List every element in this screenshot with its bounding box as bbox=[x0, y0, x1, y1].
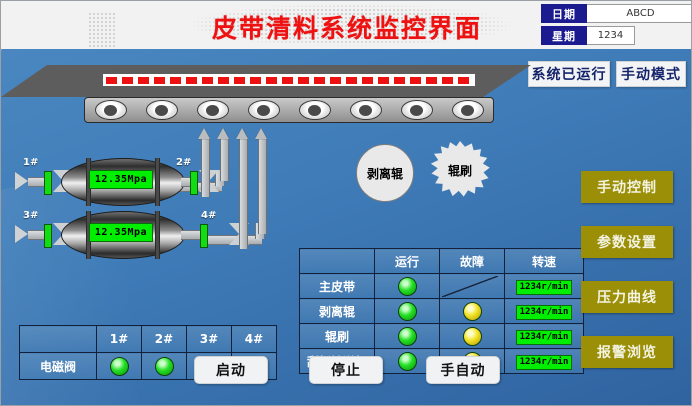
belt-dash bbox=[266, 77, 277, 84]
belt-dash bbox=[378, 77, 389, 84]
belt-dash bbox=[186, 77, 197, 84]
run-lamp-cell bbox=[375, 299, 440, 324]
spray-arrow-2 bbox=[217, 128, 230, 181]
belt-dash bbox=[234, 77, 245, 84]
roller-hub bbox=[410, 105, 423, 116]
date-field: 日期 ABCD bbox=[541, 4, 692, 23]
fault-lamp bbox=[463, 327, 482, 346]
mimic-canvas: 系统已运行 手动模式 剥离辊 辊刷 1# bbox=[1, 49, 692, 406]
stop-button[interactable]: 停止 bbox=[309, 356, 383, 384]
belt-dash bbox=[106, 77, 117, 84]
belt-dash bbox=[154, 77, 165, 84]
col-head-blank bbox=[20, 326, 97, 353]
run-lamp-cell bbox=[375, 324, 440, 349]
run-lamp bbox=[398, 277, 417, 296]
table-row: 辊刷 1234r/min bbox=[300, 324, 584, 349]
speed-cell: 1234r/min bbox=[505, 299, 584, 324]
belt-dash bbox=[426, 77, 437, 84]
row-label: 辊刷 bbox=[300, 324, 375, 349]
valve-lamp bbox=[155, 357, 174, 376]
alarm-browse-button[interactable]: 报警浏览 bbox=[581, 336, 673, 368]
valve-lamp-cell-2 bbox=[142, 353, 187, 380]
manual-auto-button[interactable]: 手自动 bbox=[426, 356, 500, 384]
conveyor-roller bbox=[248, 100, 280, 120]
valve-label-4: 4# bbox=[201, 210, 216, 221]
belt-dash bbox=[394, 77, 405, 84]
peel-roller-shape: 剥离辊 bbox=[356, 144, 414, 202]
date-value[interactable]: ABCD bbox=[587, 4, 692, 23]
belt-dash bbox=[170, 77, 181, 84]
start-button[interactable]: 启动 bbox=[194, 356, 268, 384]
valve-label-1: 1# bbox=[23, 157, 38, 168]
roller-hub bbox=[257, 105, 270, 116]
conveyor-roller bbox=[146, 100, 178, 120]
belt-dash bbox=[202, 77, 213, 84]
valve-indicator-3 bbox=[44, 224, 52, 248]
speed-value: 1234r/min bbox=[516, 330, 573, 345]
manual-control-button[interactable]: 手动控制 bbox=[581, 171, 673, 203]
weekday-field: 星期 1234 bbox=[541, 26, 635, 45]
col-head-speed: 转速 bbox=[505, 249, 584, 274]
valve-lamp-cell-1 bbox=[97, 353, 142, 380]
col-head-fault: 故障 bbox=[440, 249, 505, 274]
belt-dash bbox=[442, 77, 453, 84]
weekday-value[interactable]: 1234 bbox=[587, 26, 635, 45]
roller-hub bbox=[359, 105, 372, 116]
col-head-valve-4: 4# bbox=[232, 326, 277, 353]
roller-hub bbox=[308, 105, 321, 116]
conveyor-roller bbox=[197, 100, 229, 120]
inlet-pipe-1 bbox=[28, 177, 44, 187]
roller-brush-shape: 辊刷 bbox=[429, 141, 491, 199]
fault-lamp bbox=[463, 302, 482, 321]
valve-indicator-2 bbox=[190, 171, 198, 195]
inlet-arrow-3 bbox=[15, 225, 28, 243]
speed-value: 1234r/min bbox=[516, 305, 573, 320]
belt-dash bbox=[298, 77, 309, 84]
conveyor-roller bbox=[350, 100, 382, 120]
belt-dash bbox=[410, 77, 421, 84]
col-head-run: 运行 bbox=[375, 249, 440, 274]
row-label: 剥离辊 bbox=[300, 299, 375, 324]
roller-hub bbox=[461, 105, 474, 116]
valve-indicator-4 bbox=[200, 224, 208, 248]
valve-indicator-1 bbox=[44, 171, 52, 195]
fault-lamp-cell bbox=[440, 299, 505, 324]
date-label: 日期 bbox=[541, 4, 587, 23]
belt-dash bbox=[330, 77, 341, 84]
roller-hub bbox=[206, 105, 219, 116]
pressure-display-2: 12.35Mpa bbox=[89, 223, 153, 242]
conveyor-roller bbox=[95, 100, 127, 120]
belt-dash bbox=[138, 77, 149, 84]
col-head-blank bbox=[300, 249, 375, 274]
scada-screen: 皮带清料系统监控界面 日期 ABCD 星期 1234 系统已运行 手动模式 bbox=[0, 0, 692, 406]
pressure-display-1: 12.35Mpa bbox=[89, 170, 153, 189]
belt-dash bbox=[362, 77, 373, 84]
table-header-row: 1# 2# 3# 4# bbox=[20, 326, 277, 353]
run-lamp bbox=[398, 352, 417, 371]
outlet-pipe-2 bbox=[181, 230, 201, 240]
roller-hub bbox=[104, 105, 117, 116]
weekday-label: 星期 bbox=[541, 26, 587, 45]
table-row: 主皮带 1234r/min bbox=[300, 274, 584, 299]
run-lamp bbox=[398, 327, 417, 346]
valve-label-3: 3# bbox=[23, 210, 38, 221]
row-label: 主皮带 bbox=[300, 274, 375, 299]
system-status-indicator[interactable]: 系统已运行 bbox=[528, 61, 610, 87]
valve-lamp bbox=[110, 357, 129, 376]
table-row: 剥离辊 1234r/min bbox=[300, 299, 584, 324]
conveyor-roller bbox=[452, 100, 484, 120]
speed-cell: 1234r/min bbox=[505, 274, 584, 299]
mode-status-indicator[interactable]: 手动模式 bbox=[616, 61, 686, 87]
parameter-settings-button[interactable]: 参数设置 bbox=[581, 226, 673, 258]
title-bar: 皮带清料系统监控界面 日期 ABCD 星期 1234 bbox=[1, 1, 692, 50]
roller-hub bbox=[155, 105, 168, 116]
belt-dash bbox=[314, 77, 325, 84]
belt-dash bbox=[250, 77, 261, 84]
speed-value: 1234r/min bbox=[516, 280, 573, 295]
valve-label-2: 2# bbox=[176, 157, 191, 168]
belt-dash bbox=[122, 77, 133, 84]
conveyor-roller bbox=[401, 100, 433, 120]
inlet-pipe-3 bbox=[28, 230, 44, 240]
spray-arrow-1 bbox=[198, 128, 211, 197]
pressure-curve-button[interactable]: 压力曲线 bbox=[581, 281, 673, 313]
speed-cell: 1234r/min bbox=[505, 324, 584, 349]
fault-lamp-cell-na bbox=[440, 274, 505, 299]
run-lamp bbox=[398, 302, 417, 321]
conveyor-material-dashes bbox=[103, 74, 475, 86]
conveyor-roller bbox=[299, 100, 331, 120]
row-label: 电磁阀 bbox=[20, 353, 97, 380]
spray-arrow-4 bbox=[255, 128, 268, 234]
col-head-valve-2: 2# bbox=[142, 326, 187, 353]
spray-arrow-3 bbox=[236, 128, 249, 249]
run-lamp-cell bbox=[375, 274, 440, 299]
belt-dash bbox=[458, 77, 469, 84]
table-header-row: 运行 故障 转速 bbox=[300, 249, 584, 274]
col-head-valve-1: 1# bbox=[97, 326, 142, 353]
conveyor-roller-bar bbox=[84, 97, 494, 123]
speed-value: 1234r/min bbox=[516, 355, 573, 370]
col-head-valve-3: 3# bbox=[187, 326, 232, 353]
speed-cell: 1234r/min bbox=[505, 349, 584, 374]
inlet-arrow-1 bbox=[15, 172, 28, 190]
belt-dash bbox=[346, 77, 357, 84]
belt-dash bbox=[218, 77, 229, 84]
fault-lamp-cell bbox=[440, 324, 505, 349]
belt-dash bbox=[282, 77, 293, 84]
